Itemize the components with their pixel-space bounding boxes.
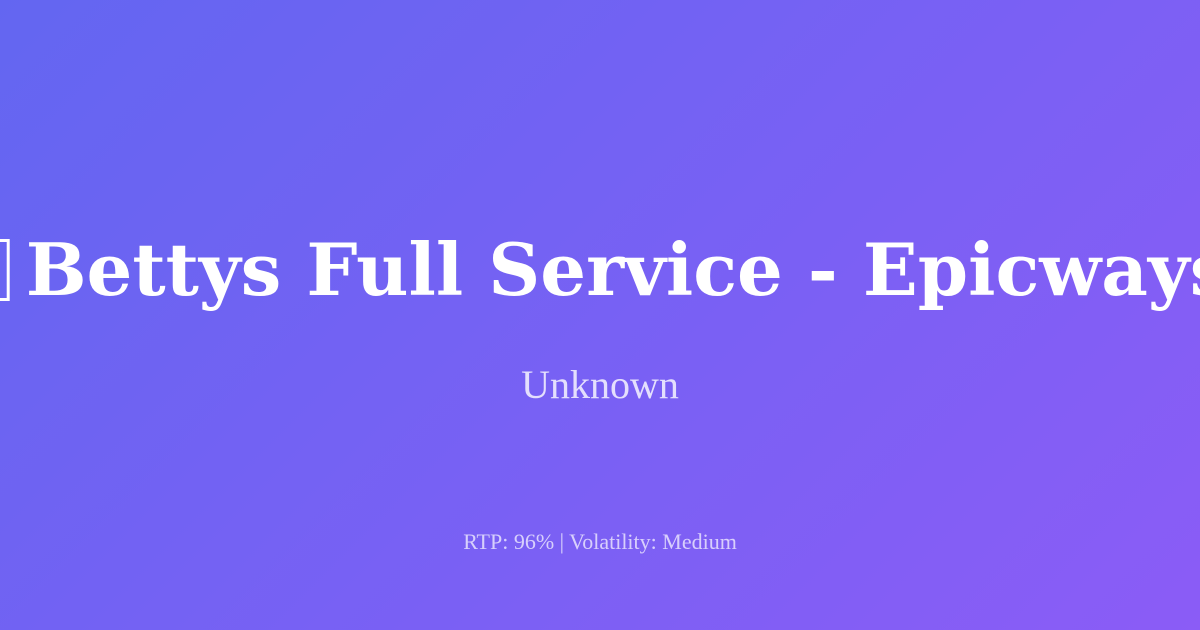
- page-title: F 0 Bettys Full Service - Epicways: [0, 228, 1200, 313]
- slot-machine-emoji-tofu-icon: F 0: [0, 239, 10, 301]
- game-provider-subtitle: Unknown: [0, 362, 1200, 408]
- game-share-card: F 0 Bettys Full Service - Epicways Unkno…: [0, 0, 1200, 630]
- game-stats-line: RTP: 96% | Volatility: Medium: [0, 528, 1200, 557]
- game-title-text: Bettys Full Service - Epicways: [26, 228, 1200, 313]
